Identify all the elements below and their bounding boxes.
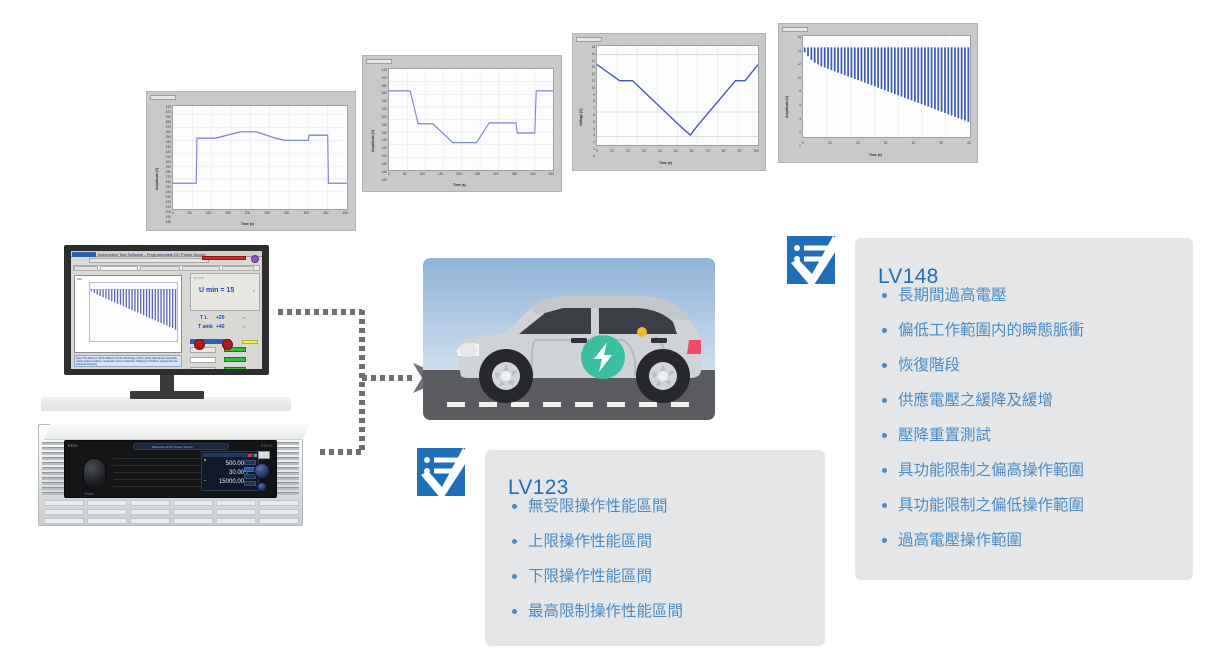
psu-banner-text: Bidirectional DC Power Supply: [152, 445, 193, 449]
x-tick: 0: [172, 212, 174, 215]
x-tick: 20: [856, 142, 860, 145]
x-tick: 30: [642, 150, 646, 153]
x-tick: 40: [658, 150, 662, 153]
y-tick: 290: [166, 166, 171, 169]
x-tick: 350: [304, 212, 309, 215]
y-tick: 6: [593, 114, 595, 117]
y-tick: 7: [593, 107, 595, 110]
chart-thumbnail-2: 420 400 380 360 340 320 300 280 260 240 …: [362, 55, 562, 192]
psu-softkey-0[interactable]: [244, 460, 256, 465]
list-item: 供應電壓之緩降及緩增: [878, 383, 1084, 418]
psu-current-value: 30.00: [210, 469, 244, 477]
y-tick: 200: [382, 155, 387, 158]
y-tick: 0: [593, 155, 595, 158]
x-tick: 150: [225, 212, 230, 215]
x-tick: 60: [967, 142, 971, 145]
y-tick: 250: [166, 186, 171, 189]
x-tick: 250: [264, 212, 269, 215]
chart-2-titlebar: [366, 59, 392, 64]
x-tick: 70: [706, 150, 710, 153]
chart-thumbnail-1: 420 400 390 380 370 360 350 340 330 320 …: [146, 91, 356, 231]
x-tick: 200: [245, 212, 250, 215]
list-item: 下限操作性能區間: [508, 559, 683, 594]
software-plot-panel: Plot: [74, 275, 182, 353]
list-item: 無受限操作性能區間: [508, 489, 683, 524]
temp-high-unit: °C: [242, 325, 245, 329]
y-tick: 230: [166, 196, 171, 199]
software-tab-1[interactable]: [100, 266, 138, 271]
y-tick: 9: [593, 94, 595, 97]
x-tick: 300: [493, 173, 498, 176]
status-led-2: [224, 357, 246, 362]
psu-knob-label: Power: [85, 492, 94, 496]
y-tick: 200: [166, 211, 171, 214]
y-tick: 180: [166, 221, 171, 224]
x-tick: 10: [828, 142, 832, 145]
software-tab-0[interactable]: [74, 266, 98, 271]
y-tick: 2: [799, 131, 801, 134]
x-tick: 90: [738, 150, 742, 153]
x-tick: 10: [610, 150, 614, 153]
psu-front-face: Bidirectional DC Power Supply ITECH IT60…: [64, 440, 277, 498]
chart-1-ylabel: Amplitude (V): [155, 168, 159, 190]
chart-3-y-ticks: 16 15 14 13 12 11 10 9 8 7 6 5 4 3 2 1 0: [581, 46, 595, 158]
list-item: 壓降重置測試: [878, 418, 1084, 453]
y-tick: 4: [593, 128, 595, 131]
psu-bottom-vents: [44, 500, 299, 524]
psu-usb-port[interactable]: [258, 451, 270, 459]
psu-banner: Bidirectional DC Power Supply: [133, 443, 229, 450]
y-tick: 260: [382, 132, 387, 135]
temp-low-label: T L: [200, 315, 208, 321]
chart-2-xlabel: Time (s): [453, 183, 466, 187]
temp-low-unit: °C: [242, 316, 245, 320]
y-tick: 190: [166, 216, 171, 219]
y-tick: 4: [799, 118, 801, 121]
y-tick: 150: [382, 179, 387, 182]
x-tick: 450: [343, 212, 348, 215]
y-tick: 320: [166, 151, 171, 154]
software-tab-2[interactable]: [140, 266, 180, 271]
y-tick: 340: [166, 141, 171, 144]
temperature-readouts: T L +20 °C T amb +40 °C: [190, 315, 260, 335]
y-tick: 300: [166, 161, 171, 164]
y-tick: 370: [166, 126, 171, 129]
y-tick: 240: [166, 191, 171, 194]
psu-brand: ITECH: [68, 444, 78, 448]
list-item: 最高限制操作性能區間: [508, 594, 683, 629]
diagram-canvas: 420 400 390 380 370 360 350 340 330 320 …: [0, 0, 1230, 664]
psu-power-value: 15000.00: [208, 478, 244, 486]
y-tick: 420: [382, 69, 387, 72]
programmable-dc-power-supply: Bidirectional DC Power Supply ITECH IT60…: [38, 424, 303, 526]
y-tick: 16: [591, 46, 595, 49]
stop-button-right[interactable]: [222, 339, 233, 350]
y-tick: 8: [593, 100, 595, 103]
y-tick: 390: [166, 116, 171, 119]
x-tick: 40: [912, 142, 916, 145]
y-tick: 380: [382, 85, 387, 88]
x-tick: 30: [884, 142, 888, 145]
psu-lcd-display[interactable]: 500.00 V 30.00 A - 15000.00 W: [201, 451, 259, 491]
psu-softkey-3[interactable]: [244, 481, 256, 486]
list-item: 具功能限制之偏高操作範圍: [878, 453, 1084, 488]
chart-3-x-ticks: 0 10 20 30 40 50 60 70 80 90 100: [596, 150, 759, 156]
psu-power-sign: -: [204, 478, 206, 484]
list-item: 上限操作性能區間: [508, 524, 683, 559]
list-item: 偏低工作範圍内的瞬態脈衝: [878, 313, 1084, 348]
x-tick: 150: [438, 173, 443, 176]
psu-enter-button[interactable]: [257, 482, 267, 492]
psu-rotary-encoder[interactable]: [254, 463, 270, 479]
x-tick: 50: [403, 173, 407, 176]
list-item: 具功能限制之偏低操作範圍: [878, 488, 1084, 523]
chart-3-plot: [596, 45, 759, 146]
x-tick: 400: [530, 173, 535, 176]
test-software-monitor: Automotive Test Software - Programmable …: [64, 245, 269, 413]
desk-surface: [41, 397, 291, 411]
y-tick: 12: [797, 63, 801, 66]
x-tick: 20: [626, 150, 630, 153]
y-tick: 11: [592, 80, 595, 83]
software-plot: [89, 282, 178, 342]
x-tick: 400: [323, 212, 328, 215]
x-tick: 250: [475, 173, 480, 176]
x-tick: 50: [674, 150, 678, 153]
software-tab-3[interactable]: [182, 266, 220, 271]
status-indicator-bar: [202, 256, 246, 260]
x-tick: 350: [512, 173, 517, 176]
psu-vent-left: [42, 442, 64, 496]
y-tick: 380: [166, 121, 171, 124]
y-tick: 340: [382, 100, 387, 103]
control-group-2[interactable]: [190, 357, 216, 363]
y-tick: 10: [591, 87, 595, 90]
software-menu-badge: [72, 252, 96, 257]
panel-lv123-list: 無受限操作性能區間 上限操作性能區間 下限操作性能區間 最高限制操作性能區間: [508, 489, 683, 629]
y-tick: 270: [166, 176, 171, 179]
chart-4-titlebar: [782, 27, 808, 32]
y-tick: 3: [593, 134, 595, 137]
chart-4-y-ticks: 16 14 12 10 8 6 4 2 0: [787, 36, 801, 148]
monitor-foot: [130, 391, 204, 399]
list-item: 恢復階段: [878, 348, 1084, 383]
software-menubar[interactable]: [89, 258, 209, 263]
software-tab-4[interactable]: [222, 266, 254, 271]
chart-1-titlebar: [150, 95, 176, 100]
x-tick: 60: [690, 150, 694, 153]
y-tick: 16: [797, 36, 801, 39]
chart-4-xlabel: Time (s): [869, 153, 882, 157]
x-tick: 100: [420, 173, 425, 176]
x-tick: 200: [456, 173, 461, 176]
y-tick: 220: [382, 147, 387, 150]
y-tick: 300: [382, 116, 387, 119]
chart-thumbnail-3: 16 15 14 13 12 11 10 9 8 7 6 5 4 3 2 1 0…: [572, 33, 766, 171]
monitor-screen[interactable]: Automotive Test Software - Programmable …: [71, 251, 262, 369]
software-right-pane: U / I / T U min = 15 V T L +20 °C T amb …: [190, 273, 260, 353]
y-tick: 360: [166, 131, 171, 134]
y-tick: 14: [591, 60, 595, 63]
chart-1-xlabel: Time (s): [241, 222, 254, 226]
software-note: Note: The fault pin will be different fo…: [74, 355, 182, 367]
chart-2-y-ticks: 420 400 380 360 340 320 300 280 260 240 …: [373, 69, 387, 182]
list-item: 長期間過高電壓: [878, 278, 1084, 313]
y-tick: 320: [382, 108, 387, 111]
chart-3-ylabel: Voltage (V): [579, 109, 583, 126]
y-tick: 180: [382, 163, 387, 166]
y-tick: 10: [797, 77, 801, 80]
y-tick: 1: [593, 148, 595, 151]
chart-1-x-ticks: 0 50 100 150 200 250 300 350 400 450: [172, 212, 348, 218]
y-tick: 360: [382, 92, 387, 95]
chart-4-x-ticks: 0 10 20 30 40 50 60: [802, 142, 971, 148]
y-tick: 0: [799, 145, 801, 148]
checklist-icon: [415, 446, 471, 510]
y-tick: 420: [166, 106, 171, 109]
y-tick: 240: [382, 139, 387, 142]
status-led-3: [224, 367, 246, 369]
chart-2-ylabel: Amplitude (V): [371, 130, 375, 152]
chart-2-plot: [388, 68, 554, 171]
y-tick: 400: [166, 111, 171, 114]
x-tick: 50: [940, 142, 944, 145]
voltage-readout-panel: U / I / T U min = 15 V: [190, 273, 260, 311]
temp-high-label: T amb: [198, 324, 213, 330]
x-tick: 450: [549, 173, 554, 176]
y-tick: 310: [166, 156, 171, 159]
y-tick: 12: [591, 73, 595, 76]
y-tick: 280: [166, 171, 171, 174]
y-tick: 350: [166, 136, 171, 139]
y-tick: 15: [591, 53, 595, 56]
y-tick: 13: [591, 66, 595, 69]
chart-3-titlebar: [576, 37, 602, 42]
y-tick: 2: [593, 141, 595, 144]
chart-thumbnail-4: 16 14 12 10 8 6 4 2 0 Amplitude (V): [778, 23, 978, 163]
x-tick: 0: [596, 150, 598, 153]
x-tick: 50: [188, 212, 192, 215]
monitor-bezel: Automotive Test Software - Programmable …: [64, 245, 269, 375]
y-tick: 6: [799, 104, 801, 107]
chart-2-x-ticks: 0 50 100 150 200 250 300 350 400 450: [388, 173, 554, 179]
stop-button-left[interactable]: [194, 339, 205, 350]
software-title: Automotive Test Software - Programmable …: [98, 252, 206, 257]
status-round-icon: [251, 255, 259, 263]
x-tick: 100: [754, 150, 759, 153]
y-tick: 8: [799, 90, 801, 93]
y-tick: 210: [166, 206, 171, 209]
electric-vehicle-illustration: [423, 258, 715, 420]
temp-high-value: +40: [216, 324, 224, 330]
panel-lv148-list: 長期間過高電壓 偏低工作範圍内的瞬態脈衝 恢復階段 供應電壓之緩降及緩增 壓降重…: [878, 278, 1084, 558]
chart-1-y-ticks: 420 400 390 380 370 360 350 340 330 320 …: [157, 106, 171, 224]
temp-low-value: +20: [216, 315, 224, 321]
checklist-icon: [785, 234, 841, 298]
y-tick: 280: [382, 124, 387, 127]
x-tick: 300: [284, 212, 289, 215]
warning-chip: [242, 340, 258, 344]
x-tick: 0: [802, 142, 804, 145]
y-tick: 400: [382, 77, 387, 80]
chart-3-xlabel: Time (s): [659, 161, 672, 165]
x-tick: 0: [388, 173, 390, 176]
psu-power-knob[interactable]: [83, 458, 106, 490]
psu-voltage-value: 500.00: [210, 460, 244, 468]
y-tick: 330: [166, 146, 171, 149]
y-tick: 220: [166, 201, 171, 204]
y-tick: 260: [166, 181, 171, 184]
y-tick: 5: [593, 121, 595, 124]
big-value: U min = 15: [199, 287, 234, 294]
control-group-3[interactable]: [190, 367, 216, 369]
list-item: 過高電壓操作範圍: [878, 523, 1084, 558]
x-tick: 100: [206, 212, 211, 215]
y-tick: 14: [797, 50, 801, 53]
chart-4-plot: [802, 35, 971, 138]
y-tick: 160: [382, 171, 387, 174]
x-tick: 80: [722, 150, 726, 153]
chart-4-ylabel: Amplitude (V): [785, 96, 789, 118]
chart-1-plot: [172, 105, 348, 210]
